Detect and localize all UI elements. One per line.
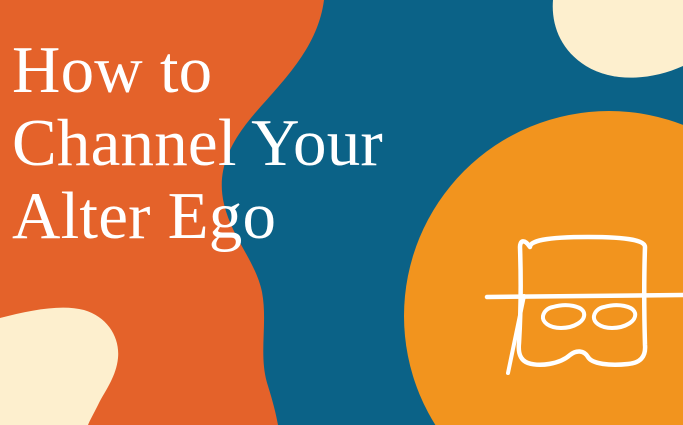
mask-eye-left [543,305,584,328]
mask-eye-right [594,305,635,328]
mask-horizontal-tie-line [487,295,683,297]
poster-canvas: How to Channel Your Alter Ego [0,0,683,425]
mask-outline [519,237,645,365]
masquerade-mask-illustration [0,0,683,425]
